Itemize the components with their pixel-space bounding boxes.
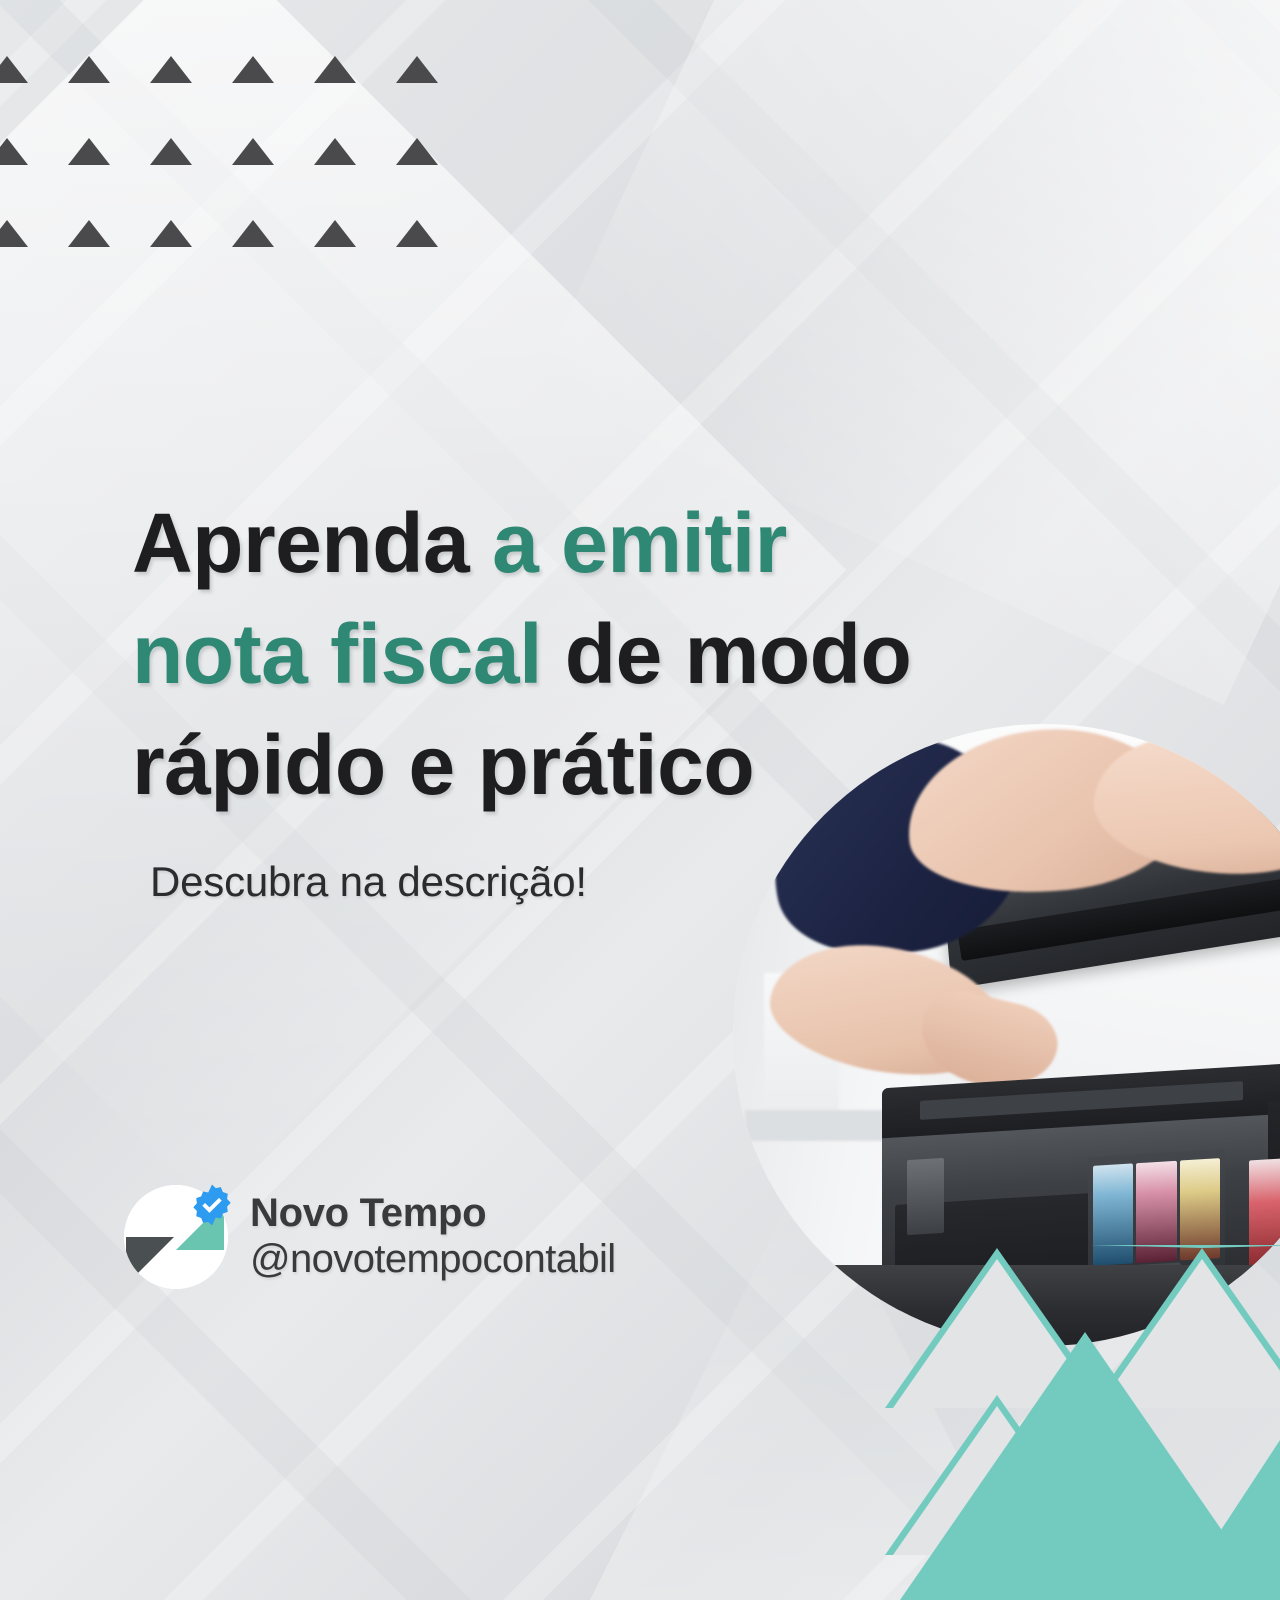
headline-line1-accent: a emitir (492, 496, 787, 590)
pattern-triangle-icon (314, 138, 356, 165)
verified-badge-icon (190, 1183, 234, 1227)
pattern-triangle-icon (396, 56, 438, 83)
pattern-triangle-icon (232, 56, 274, 83)
pattern-triangle-icon (314, 56, 356, 83)
pattern-triangle-icon (314, 220, 356, 247)
pattern-triangle-icon (150, 138, 192, 165)
pattern-triangle-icon (68, 56, 110, 83)
avatar[interactable] (124, 1185, 228, 1289)
social-media-poster: Aprenda a emitir nota fiscal de modo ráp… (0, 0, 1280, 1600)
mint-triangle-filled-edge (1175, 1440, 1280, 1600)
pattern-triangle-icon (150, 220, 192, 247)
pattern-triangle-icon (68, 220, 110, 247)
profile-text-block: Novo Tempo @novotempocontabil (250, 1191, 616, 1283)
pattern-triangle-icon (396, 220, 438, 247)
printer-latch (907, 1158, 944, 1235)
pattern-triangle-icon (0, 138, 28, 165)
logo-triangle-dark-icon (126, 1237, 174, 1285)
pattern-triangle-icon (68, 138, 110, 165)
profile-handle: @novotempocontabil (250, 1236, 616, 1283)
headline-line-2: nota fiscal de modo (132, 599, 1072, 710)
pattern-triangle-icon (232, 138, 274, 165)
subtitle-text: Descubra na descrição! (150, 858, 587, 906)
headline-line-1: Aprenda a emitir (132, 488, 1072, 599)
pattern-triangle-icon (150, 56, 192, 83)
pattern-triangle-icon (232, 220, 274, 247)
profile-row[interactable]: Novo Tempo @novotempocontabil (124, 1185, 616, 1289)
triangle-grid-pattern-icon (0, 56, 406, 266)
headline-line2-accent: nota fiscal (132, 607, 542, 701)
profile-name: Novo Tempo (250, 1191, 616, 1236)
pattern-triangle-icon (396, 138, 438, 165)
pattern-triangle-icon (0, 56, 28, 83)
headline-line2-dark: de modo (542, 607, 911, 701)
pattern-triangle-icon (0, 220, 28, 247)
headline-line1-dark: Aprenda (132, 496, 492, 590)
